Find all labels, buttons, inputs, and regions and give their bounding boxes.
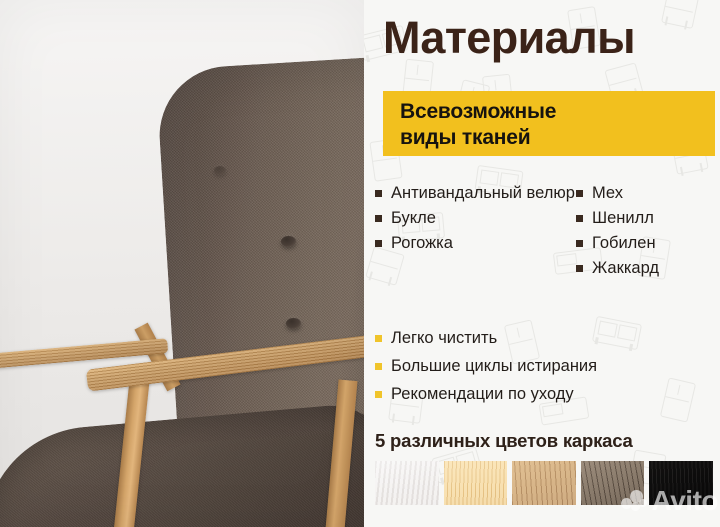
square-bullet-icon (375, 335, 382, 342)
list-item-label: Жаккард (592, 258, 659, 279)
frame-colors-heading: 5 различных цветов каркаса (375, 430, 633, 452)
promo-card: Материалы Всевозможные виды тканей Антив… (0, 0, 720, 527)
color-swatch-light-beige[interactable] (444, 461, 508, 505)
square-bullet-icon (576, 215, 583, 222)
list-item-label: Антивандальный велюр (391, 183, 575, 204)
list-item: Большие циклы истирания (375, 356, 715, 377)
square-bullet-icon (375, 240, 382, 247)
list-item-label: Рогожка (391, 233, 453, 254)
page-title: Материалы (383, 12, 635, 64)
list-item: Шенилл (576, 208, 716, 229)
square-bullet-icon (375, 215, 382, 222)
list-item: Гобилен (576, 233, 716, 254)
list-item-label: Рекомендации по уходу (391, 384, 574, 405)
avito-dots-icon (621, 489, 647, 513)
fabrics-list-right: Мех Шенилл Гобилен Жаккард (576, 183, 716, 283)
features-list: Легко чистить Большие циклы истирания Ре… (375, 328, 715, 412)
list-item: Букле (375, 208, 575, 229)
list-item-label: Букле (391, 208, 436, 229)
list-item: Рекомендации по уходу (375, 384, 715, 405)
square-bullet-icon (375, 391, 382, 398)
fabrics-banner-label: Всевозможные виды тканей (400, 99, 710, 150)
list-item: Жаккард (576, 258, 716, 279)
list-item: Мех (576, 183, 716, 204)
list-item: Легко чистить (375, 328, 715, 349)
swatch-texture (444, 461, 508, 505)
square-bullet-icon (576, 265, 583, 272)
list-item-label: Шенилл (592, 208, 654, 229)
list-item-label: Большие циклы истирания (391, 356, 597, 377)
square-bullet-icon (576, 190, 583, 197)
list-item-label: Мех (592, 183, 623, 204)
fabrics-list-left: Антивандальный велюр Букле Рогожка (375, 183, 575, 258)
fabrics-banner: Всевозможные виды тканей (383, 91, 715, 156)
swatch-texture (375, 461, 439, 505)
photo-vignette (0, 0, 364, 527)
avito-wordmark: Avito (652, 487, 718, 515)
product-photo (0, 0, 364, 527)
color-swatch-oak[interactable] (512, 461, 576, 505)
list-item-label: Легко чистить (391, 328, 497, 349)
square-bullet-icon (375, 190, 382, 197)
list-item: Антивандальный велюр (375, 183, 575, 204)
avito-watermark: Avito (621, 487, 718, 515)
square-bullet-icon (375, 363, 382, 370)
swatch-texture (512, 461, 576, 505)
list-item-label: Гобилен (592, 233, 656, 254)
fabrics-banner-line1: Всевозможные (400, 99, 710, 125)
info-panel: Материалы Всевозможные виды тканей Антив… (364, 0, 720, 527)
fabrics-banner-line2: виды тканей (400, 125, 710, 151)
square-bullet-icon (576, 240, 583, 247)
list-item: Рогожка (375, 233, 575, 254)
color-swatch-white[interactable] (375, 461, 439, 505)
